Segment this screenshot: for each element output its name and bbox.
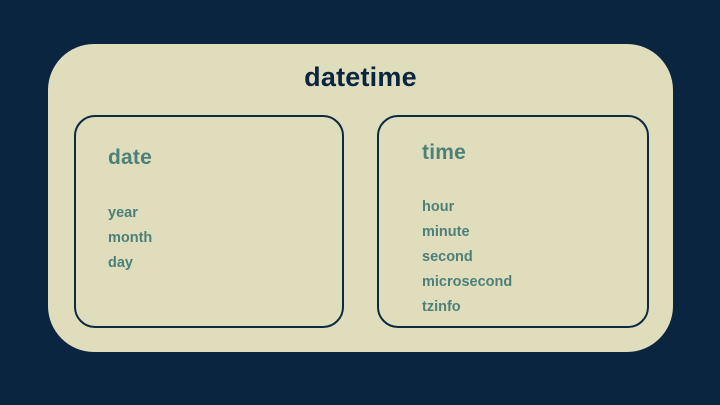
attribute-item: month — [108, 226, 152, 251]
attribute-item: second — [422, 245, 512, 270]
attribute-item: tzinfo — [422, 295, 512, 320]
date-attribute-list: year month day — [108, 201, 152, 276]
attribute-item: hour — [422, 195, 512, 220]
datetime-title: datetime — [48, 62, 673, 93]
date-component-title: date — [108, 146, 152, 170]
time-attribute-list: hour minute second microsecond tzinfo — [422, 195, 512, 320]
attribute-item: minute — [422, 220, 512, 245]
datetime-card: datetime date year month day time hour m… — [48, 44, 673, 352]
diagram-canvas: datetime date year month day time hour m… — [0, 0, 720, 405]
attribute-item: day — [108, 251, 152, 276]
time-component-title: time — [422, 141, 466, 165]
time-component-box: time hour minute second microsecond tzin… — [377, 115, 649, 328]
attribute-item: microsecond — [422, 270, 512, 295]
attribute-item: year — [108, 201, 152, 226]
date-component-box: date year month day — [74, 115, 344, 328]
